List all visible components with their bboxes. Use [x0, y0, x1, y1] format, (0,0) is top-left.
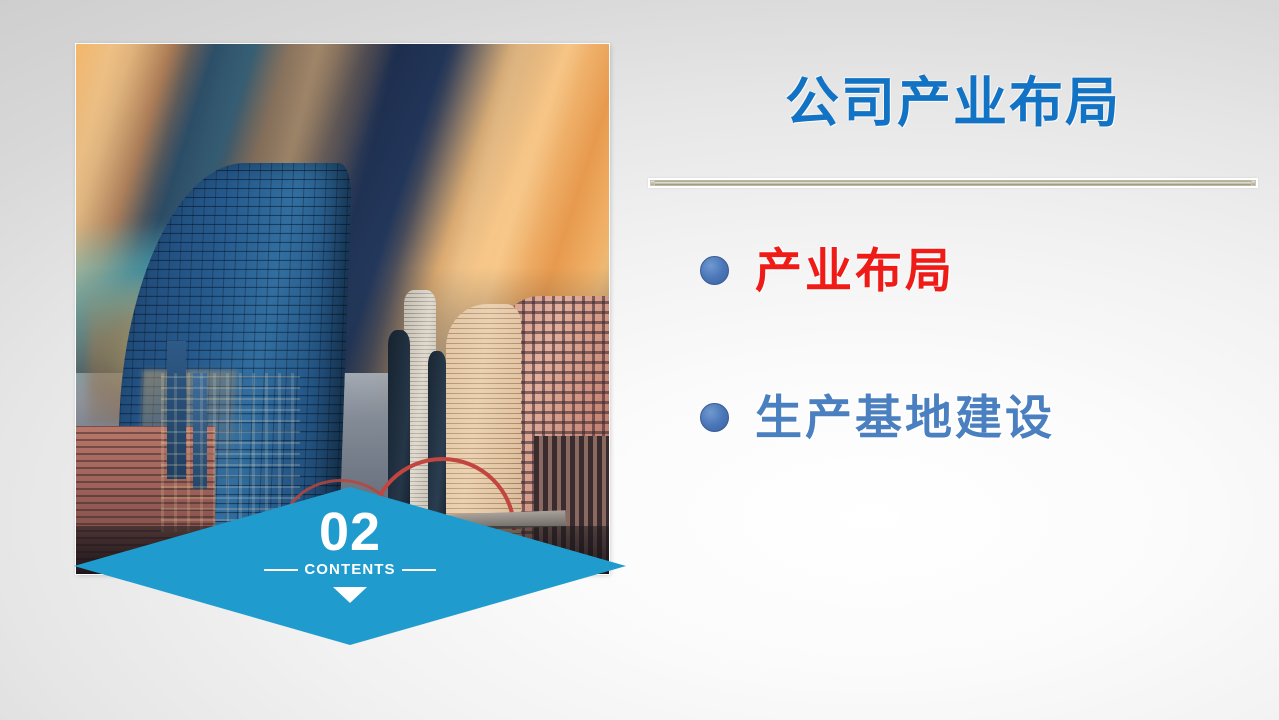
page-title: 公司产业布局 [648, 72, 1258, 134]
contents-label: CONTENTS [304, 561, 395, 578]
title-divider [648, 178, 1258, 188]
bullet-dot-icon [700, 256, 729, 285]
presentation-slide: 02 CONTENTS 公司产业布局 产业布局 生产基地建设 [0, 0, 1279, 720]
bullet-item-2[interactable]: 生产基地建设 [700, 392, 1055, 444]
bullet-label-1: 产业布局 [755, 245, 955, 297]
down-triangle-icon [333, 587, 367, 603]
contents-rule-right [402, 569, 436, 571]
bullet-item-1[interactable]: 产业布局 [700, 245, 955, 297]
divider-cap-right [1251, 180, 1256, 186]
divider-cap-left [650, 180, 655, 186]
bullet-dot-icon [700, 403, 729, 432]
bullet-label-2: 生产基地建设 [755, 392, 1055, 444]
divider-bar [650, 180, 1256, 186]
contents-label-group: CONTENTS [74, 561, 626, 578]
contents-rule-left [264, 569, 298, 571]
